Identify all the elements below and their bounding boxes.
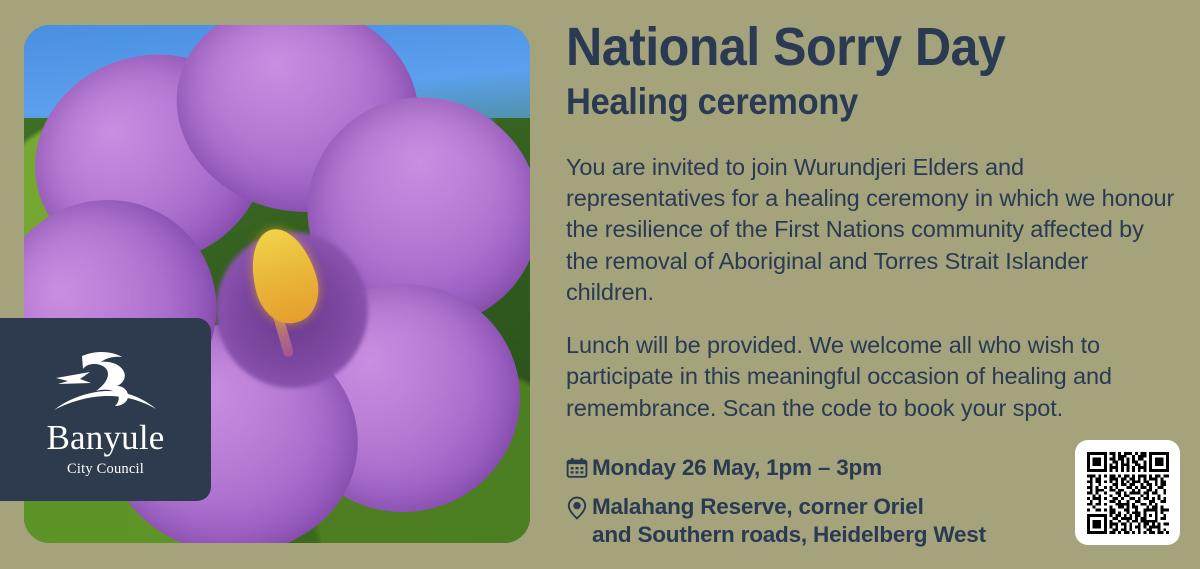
page-title: National Sorry Day xyxy=(566,20,1135,75)
banyule-logo-panel: Banyule City Council xyxy=(0,318,211,501)
banyule-bird-icon xyxy=(50,348,162,414)
body-paragraph-1: You are invited to join Wurundjeri Elder… xyxy=(566,152,1178,308)
body-paragraph-2: Lunch will be provided. We welcome all w… xyxy=(566,330,1178,424)
banyule-wordmark: Banyule xyxy=(46,420,164,455)
calendar-icon xyxy=(566,457,592,479)
event-date-text: Monday 26 May, 1pm – 3pm xyxy=(592,454,882,481)
event-location-text: Malahang Reserve, corner Oriel and South… xyxy=(592,493,986,548)
map-pin-icon xyxy=(566,496,592,520)
event-poster: Banyule City Council National Sorry Day … xyxy=(0,0,1200,569)
qr-code-card[interactable] xyxy=(1075,440,1180,545)
banyule-tagline: City Council xyxy=(67,462,144,477)
page-subtitle: Healing ceremony xyxy=(566,83,1135,122)
qr-code-icon[interactable] xyxy=(1087,452,1169,534)
